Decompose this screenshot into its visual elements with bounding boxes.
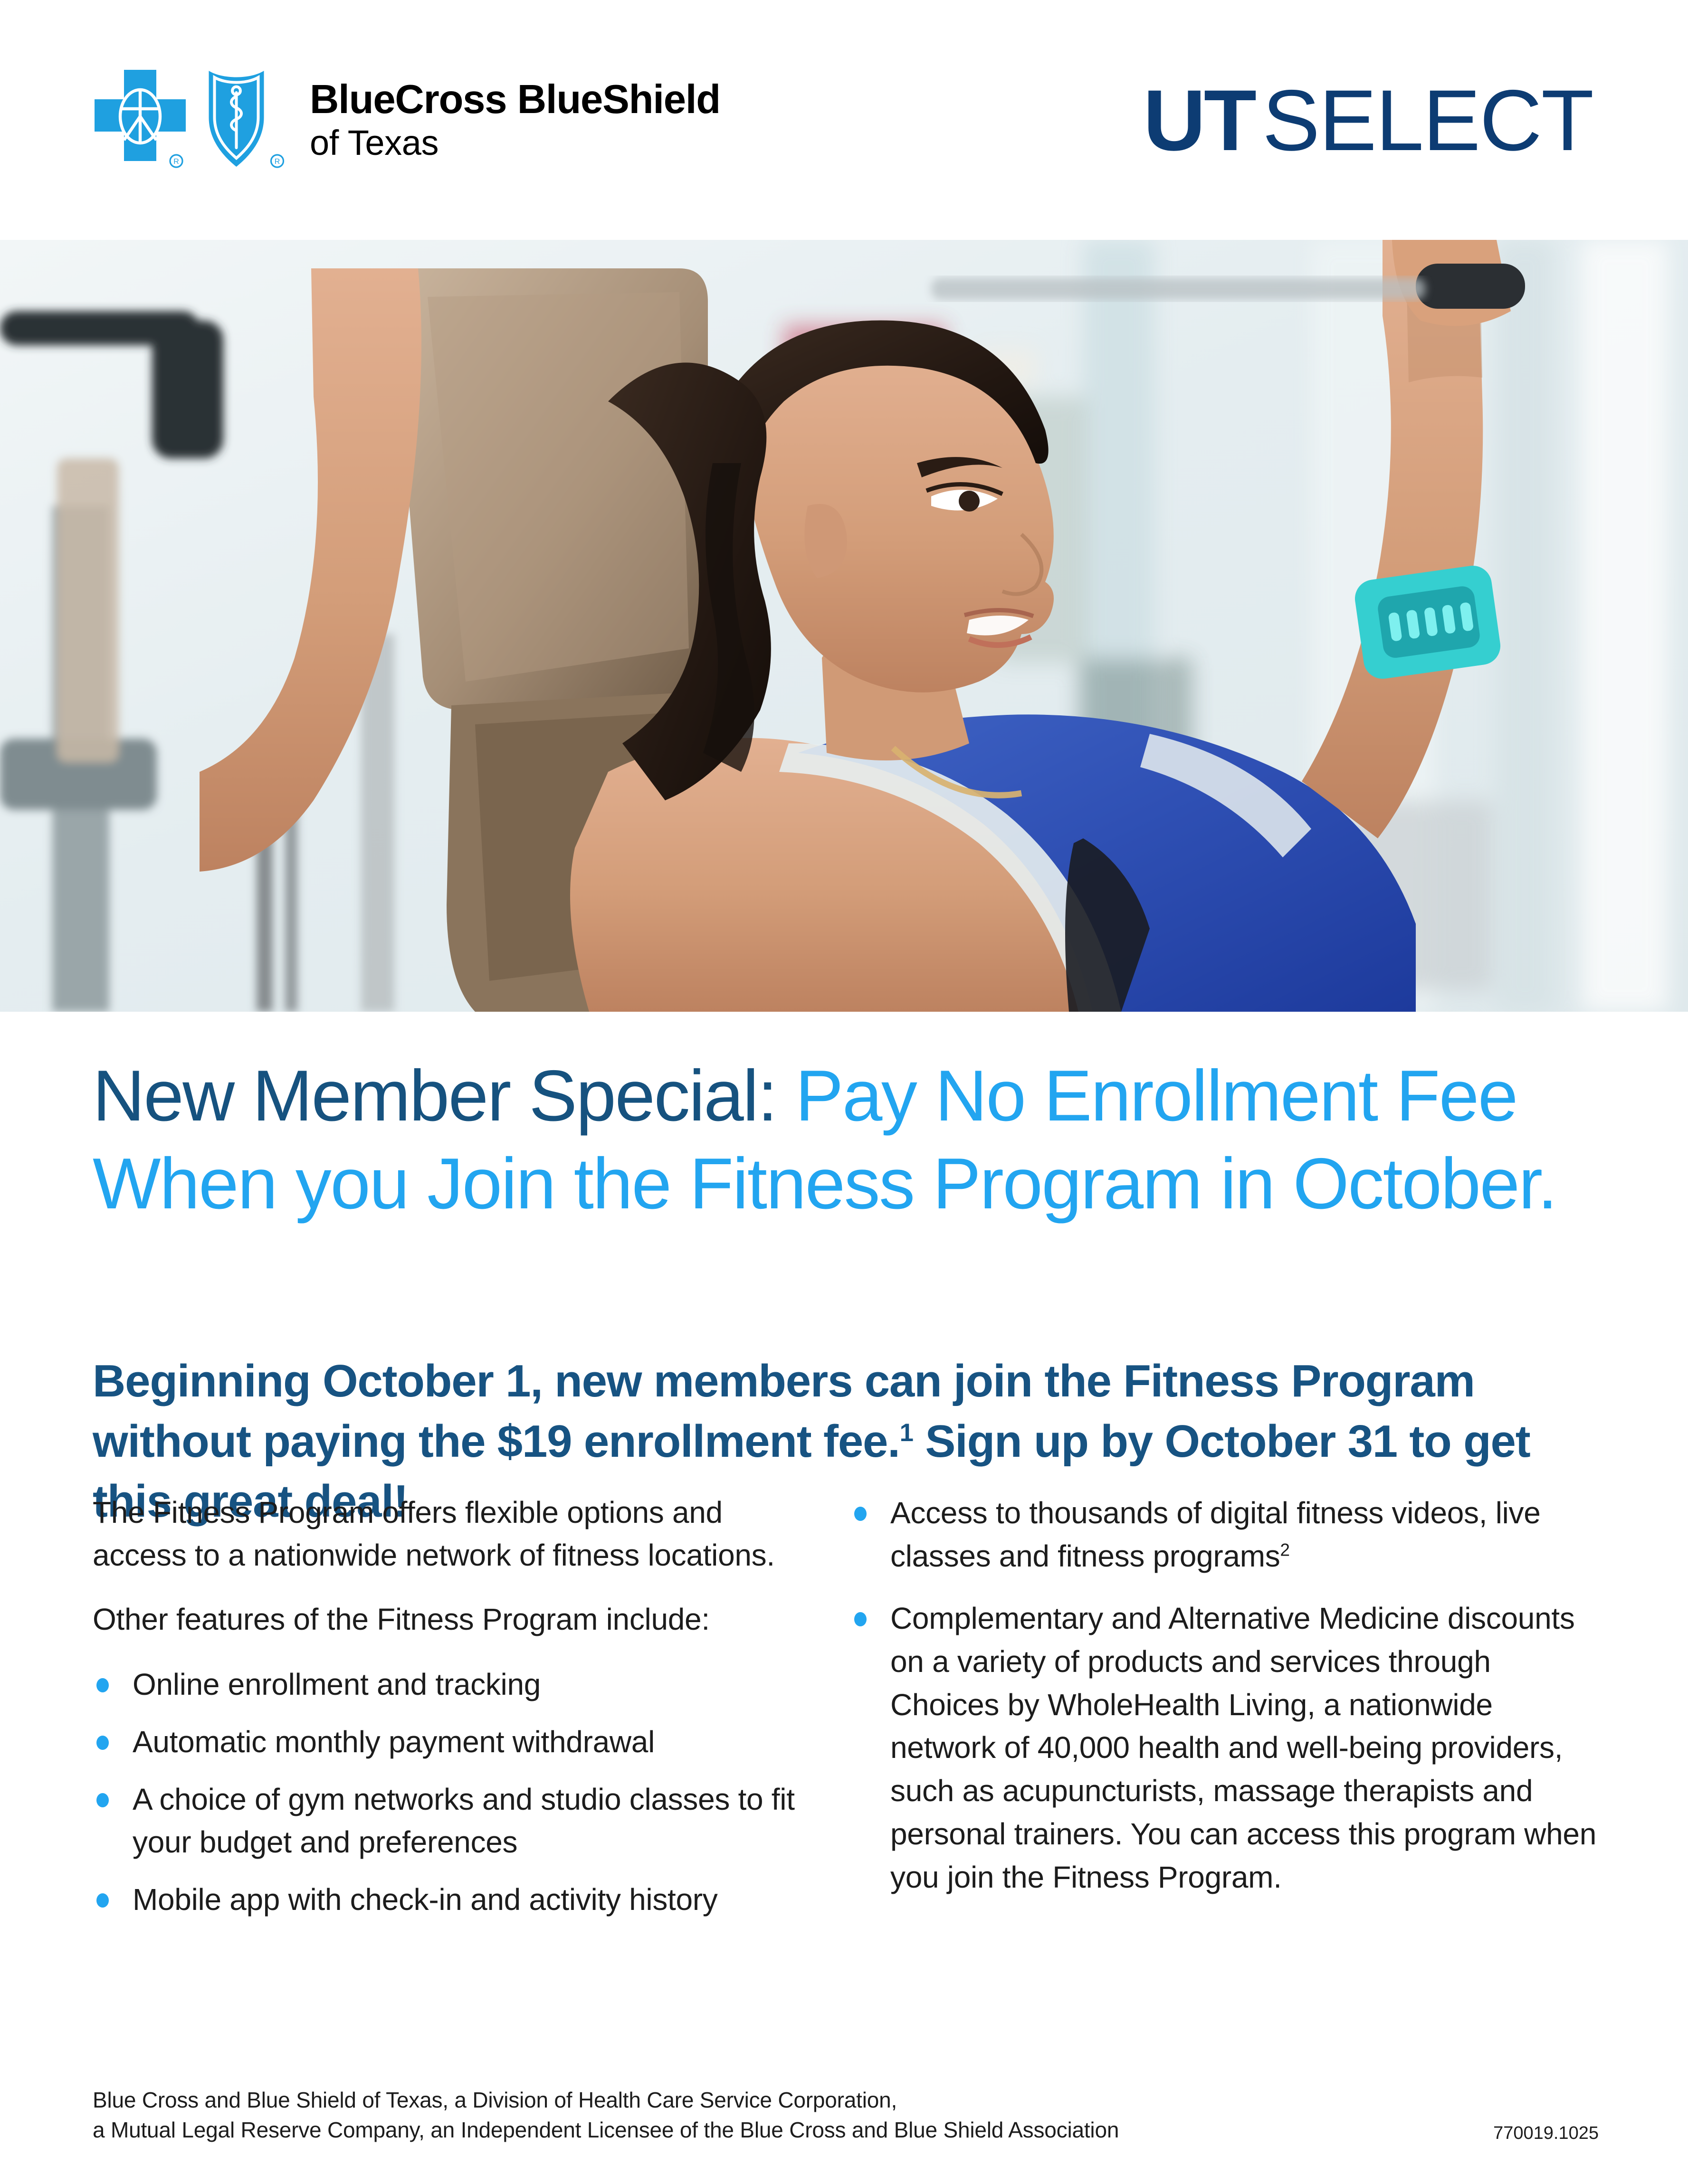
bcbs-wordmark: BlueCross BlueShield of Texas [310,79,720,161]
document-code: 770019.1025 [1493,2123,1599,2146]
left-feature-list: Online enrollment and tracking Automatic… [93,1663,798,1921]
list-item: A choice of gym networks and studio clas… [93,1778,798,1864]
hero-photo [0,240,1688,1012]
page-header: R R BlueCross BlueShield of Texas [0,0,1688,240]
list-item-text: Access to thousands of digital fitness v… [890,1496,1541,1573]
right-feature-list: Access to thousands of digital fitness v… [850,1491,1601,1899]
ut-select-ut-text: UT [1143,70,1255,170]
svg-text:R: R [173,158,179,166]
body-columns: The Fitness Program offers flexible opti… [93,1491,1601,1936]
features-lead-in: Other features of the Fitness Program in… [93,1598,798,1641]
list-item: Mobile app with check-in and activity hi… [93,1878,798,1921]
bluecross-blueshield-logo: R R BlueCross BlueShield of Texas [93,68,720,172]
list-item: Complementary and Alternative Medicine d… [850,1597,1601,1899]
list-item: Online enrollment and tracking [93,1663,798,1706]
legal-line-2: a Mutual Legal Reserve Company, an Indep… [93,2115,1119,2145]
bcbs-brand-name: BlueCross BlueShield [310,79,720,120]
fitness-watch [1353,563,1503,681]
page-footer: Blue Cross and Blue Shield of Texas, a D… [93,2085,1599,2146]
intro-paragraph: The Fitness Program offers flexible opti… [93,1491,798,1576]
hero-photo-illustration [0,240,1688,1012]
bcbs-logo-marks: R R [93,68,288,172]
ut-select-logo: UT SELECT [1143,70,1593,170]
body-column-right: Access to thousands of digital fitness v… [850,1491,1601,1936]
legal-line-1: Blue Cross and Blue Shield of Texas, a D… [93,2085,1119,2115]
list-item-footnote-marker: 2 [1280,1540,1289,1560]
blue-shield-icon: R [200,68,288,172]
legal-disclaimer: Blue Cross and Blue Shield of Texas, a D… [93,2085,1119,2146]
blue-cross-icon: R [93,68,188,172]
svg-text:R: R [275,158,280,166]
page-headline: New Member Special: Pay No Enrollment Fe… [93,1052,1589,1228]
flyer-page: R R BlueCross BlueShield of Texas [0,0,1688,2184]
list-item: Automatic monthly payment withdrawal [93,1720,798,1764]
headline-part-dark: New Member Special: [93,1055,776,1136]
list-item: Access to thousands of digital fitness v… [850,1491,1601,1578]
bcbs-state-name: of Texas [310,125,720,161]
ut-select-select-text: SELECT [1262,70,1593,170]
list-item-text: Complementary and Alternative Medicine d… [890,1601,1596,1894]
subhead-footnote-marker: 1 [900,1419,913,1447]
body-column-left: The Fitness Program offers flexible opti… [93,1491,850,1936]
